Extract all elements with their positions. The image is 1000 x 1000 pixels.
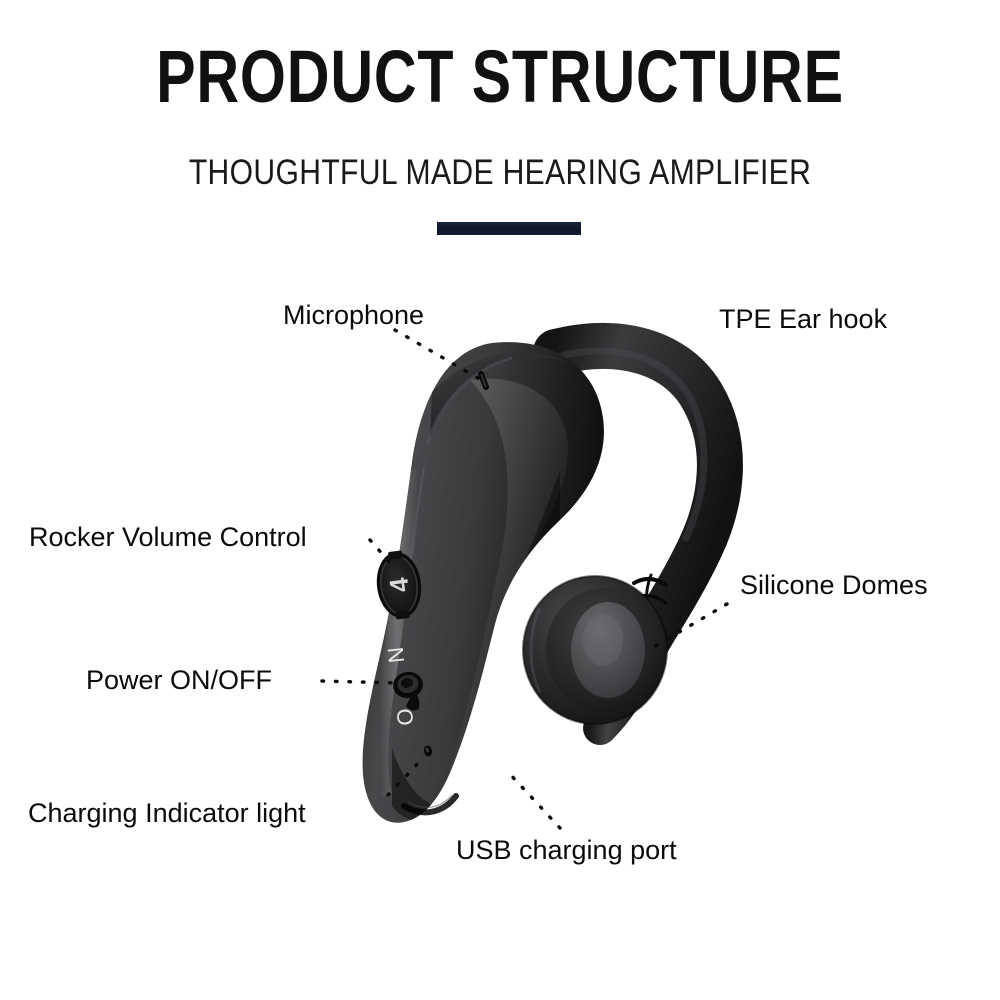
- page-title: PRODUCT STRUCTURE: [100, 34, 900, 120]
- product-structure-infographic: PRODUCT STRUCTURE THOUGHTFUL MADE HEARIN…: [0, 0, 1000, 1000]
- callout-label-usb-charging-port: USB charging port: [456, 834, 677, 866]
- callout-label-microphone: Microphone: [283, 299, 424, 331]
- title-divider-bar: [437, 222, 581, 235]
- earphone-body: 4 N O: [363, 342, 604, 823]
- callout-label-silicone-domes: Silicone Domes: [740, 569, 928, 601]
- callout-label-power-on-off: Power ON/OFF: [86, 664, 272, 696]
- leader-usb-charging-port: [508, 772, 560, 828]
- leader-silicone-domes: [652, 604, 727, 648]
- leader-charging-indicator: [388, 757, 424, 795]
- usb-charging-port: [404, 795, 456, 812]
- silicone-domes-part: [523, 576, 667, 724]
- callout-label-rocker-volume-control: Rocker Volume Control: [29, 521, 307, 553]
- power-switch[interactable]: N O: [383, 646, 425, 727]
- page-subtitle: THOUGHTFUL MADE HEARING AMPLIFIER: [70, 152, 930, 194]
- ear-hook-arm: [600, 575, 666, 728]
- leader-power-on-off: [322, 681, 396, 683]
- callout-label-tpe-ear-hook: TPE Ear hook: [719, 303, 887, 335]
- charging-indicator-light: [423, 745, 433, 757]
- microphone-port: [481, 374, 486, 387]
- callout-label-charging-indicator-light: Charging Indicator light: [28, 797, 306, 829]
- leader-rocker-volume: [370, 540, 393, 566]
- rocker-volume-glyph: 4: [383, 575, 415, 594]
- power-switch-off-marking: O: [392, 707, 419, 727]
- tpe-ear-hook-part: [556, 346, 720, 640]
- callout-leader-lines: [322, 330, 727, 828]
- leader-microphone: [395, 330, 483, 381]
- power-switch-on-marking: N: [383, 646, 410, 664]
- rocker-volume-control[interactable]: 4: [373, 550, 425, 621]
